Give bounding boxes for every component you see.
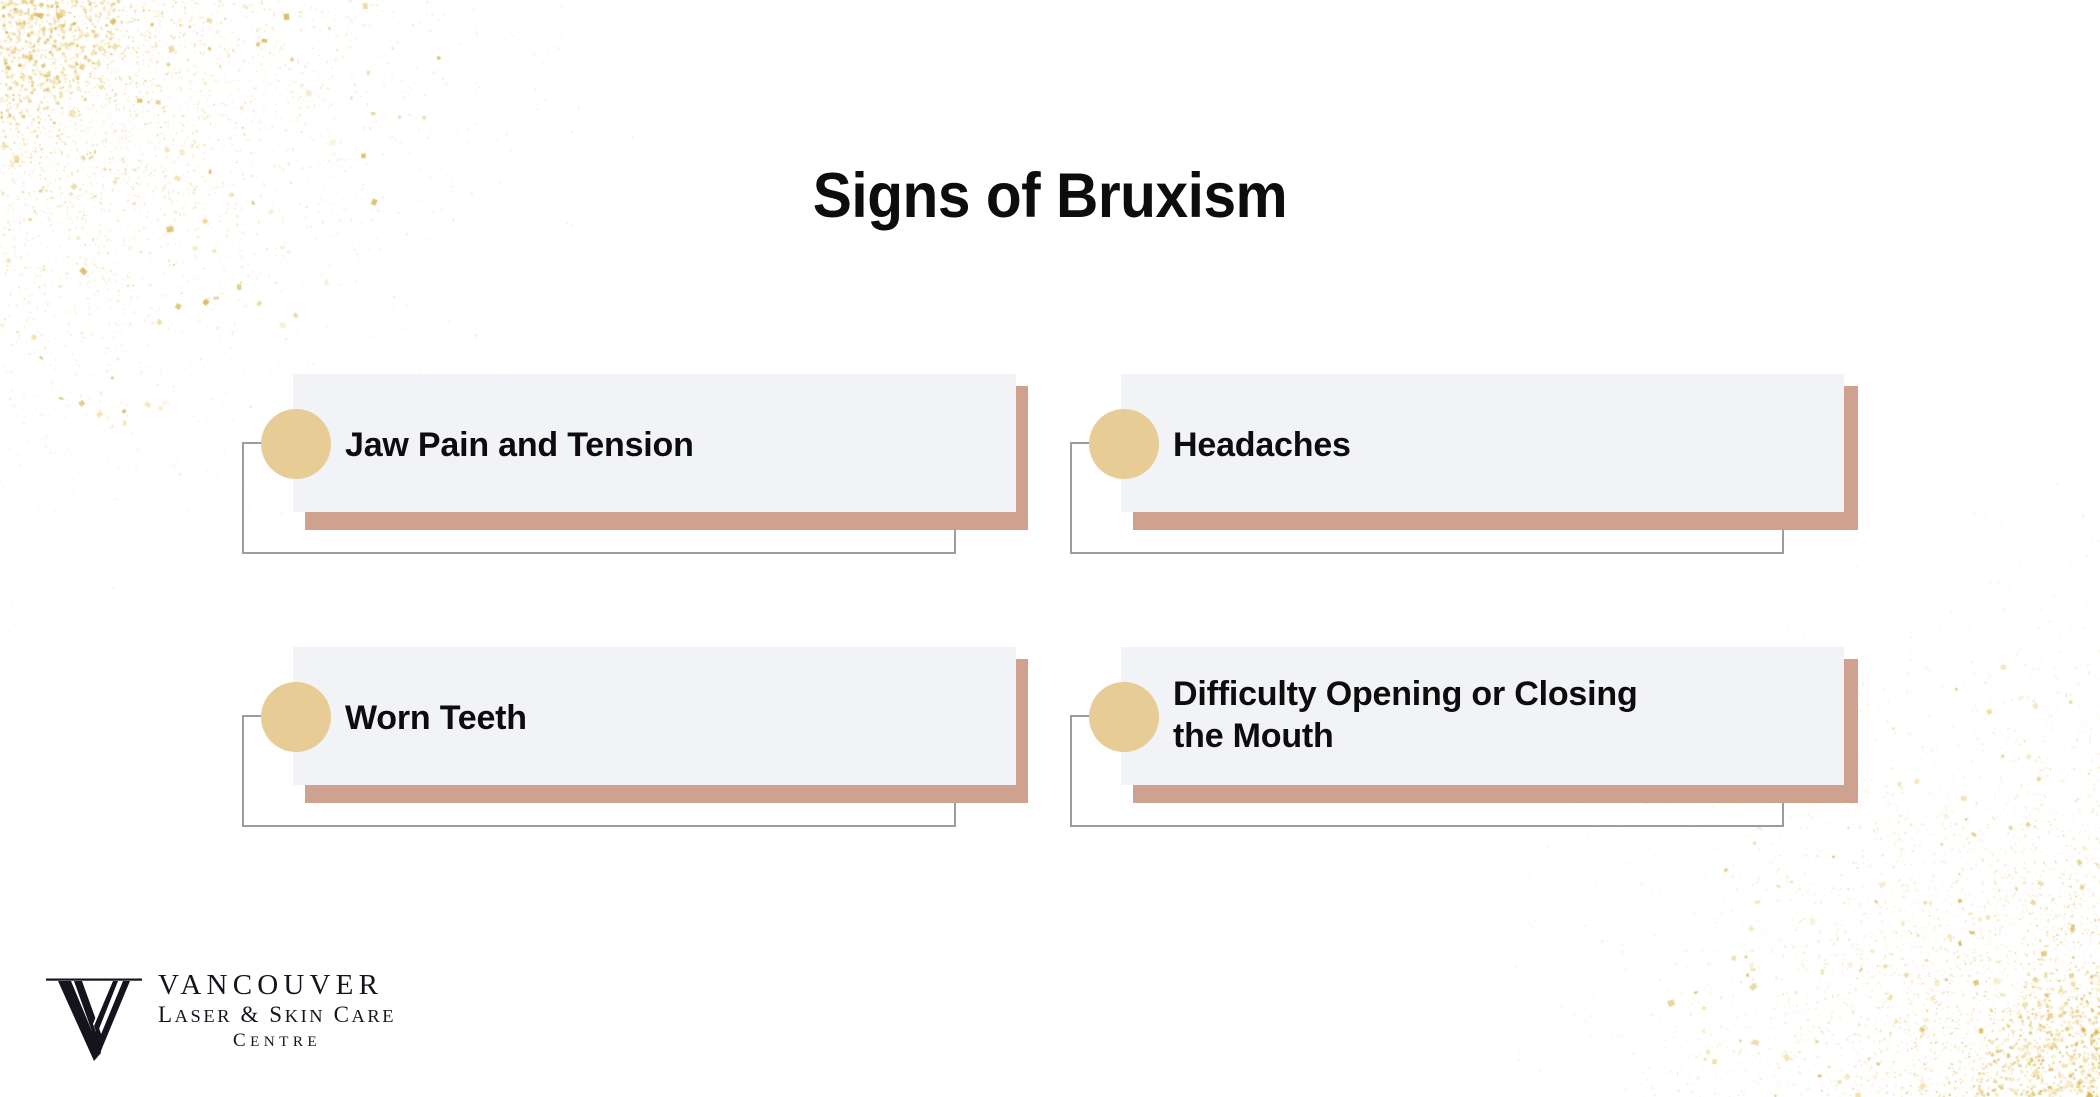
brand-cap: S	[269, 1002, 284, 1027]
card-label: Jaw Pain and Tension	[345, 424, 995, 466]
slide-canvas: Signs of Bruxism Jaw Pain and Tension He…	[0, 0, 2100, 1097]
brand-cap: L	[158, 1002, 175, 1027]
brand-ampersand: &	[240, 1002, 261, 1027]
brand-cap: C	[334, 1002, 352, 1027]
card-label-line: Difficulty Opening or Closing	[1173, 673, 1833, 715]
card-label: Headaches	[1173, 424, 1823, 466]
card-bullet-dot-icon	[1089, 409, 1159, 479]
brand-line-centre: CENTRE	[158, 1029, 396, 1054]
brand-smallcaps: ENTRE	[250, 1033, 321, 1050]
brand-smallcaps: ASER	[175, 1006, 232, 1026]
brand-line-laser-skin-care: LASER & SKIN CARE	[158, 1001, 396, 1029]
v-monogram-icon	[44, 962, 148, 1066]
card-bullet-dot-icon	[261, 409, 331, 479]
card-label-line: the Mouth	[1173, 715, 1833, 757]
brand-line-vancouver: VANCOUVER	[158, 970, 396, 1001]
brand-smallcaps: KIN	[285, 1006, 326, 1026]
brand-smallcaps: ARE	[352, 1006, 397, 1026]
brand-logo[interactable]: VANCOUVER LASER & SKIN CARE CENTRE	[44, 960, 396, 1066]
card-bullet-dot-icon	[261, 682, 331, 752]
card-bullet-dot-icon	[1089, 682, 1159, 752]
brand-logo-text: VANCOUVER LASER & SKIN CARE CENTRE	[158, 970, 396, 1053]
brand-cap: C	[233, 1030, 250, 1051]
card-label: Difficulty Opening or Closing the Mouth	[1173, 673, 1833, 757]
card-label: Worn Teeth	[345, 697, 995, 739]
